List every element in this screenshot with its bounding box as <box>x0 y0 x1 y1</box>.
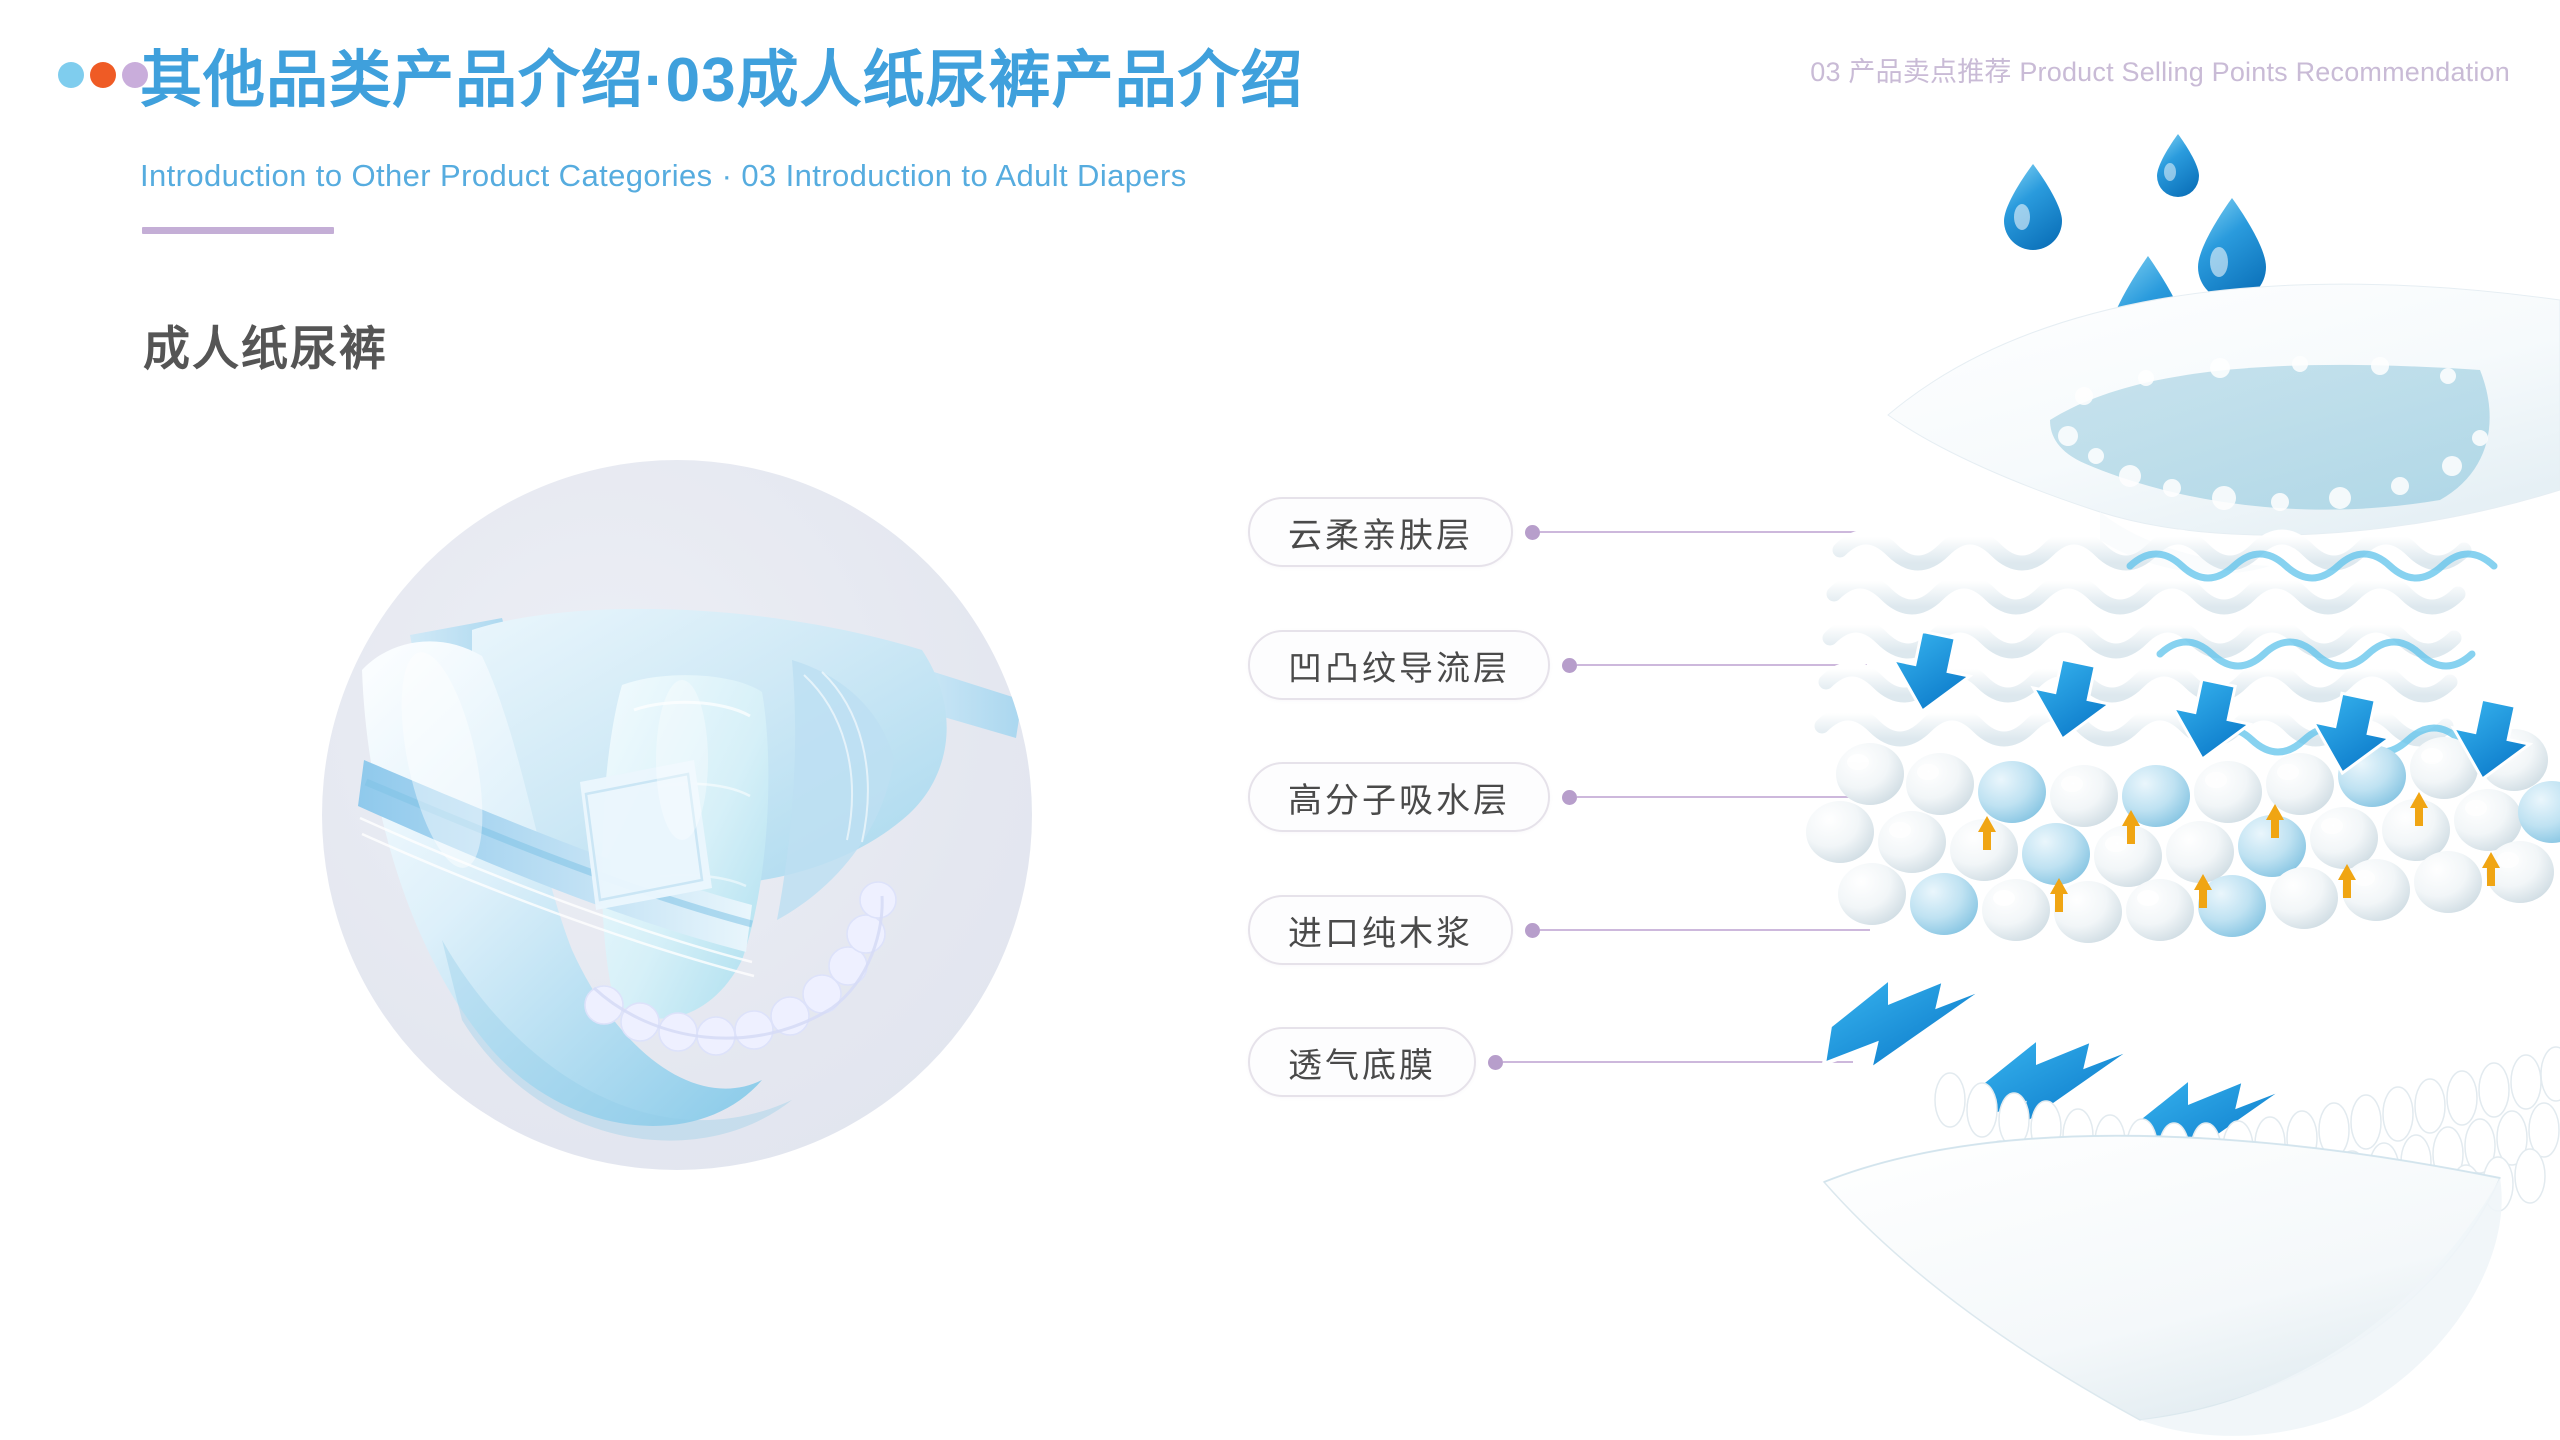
connector-dot-icon <box>1488 1055 1503 1070</box>
sap-bead-layer <box>1806 729 2560 943</box>
absorbent-layer-cutaway-illustration <box>1800 120 2560 1440</box>
layer-label-5[interactable]: 透气底膜 <box>1248 1027 1476 1097</box>
layer-label-3[interactable]: 高分子吸水层 <box>1248 762 1550 832</box>
blue-dot-icon <box>58 62 84 88</box>
page-title: 其他品类产品介绍·03成人纸尿裤产品介绍 <box>140 48 1304 113</box>
connector-dot-icon <box>1525 923 1540 938</box>
connector-dot-icon <box>1562 790 1577 805</box>
layer-row-4[interactable]: 进口纯木浆 <box>1248 895 1870 965</box>
connector-dot-icon <box>1562 658 1577 673</box>
layer-label-2[interactable]: 凹凸纹导流层 <box>1248 630 1550 700</box>
layer-label-1[interactable]: 云柔亲肤层 <box>1248 497 1513 567</box>
top-sheet-layer <box>1888 284 2560 573</box>
adult-diaper-product-illustration <box>322 460 1032 1170</box>
layer-row-1[interactable]: 云柔亲肤层 <box>1248 497 1870 567</box>
brand-dots <box>58 62 148 88</box>
section-heading: 成人纸尿裤 <box>143 310 388 379</box>
connector-dot-icon <box>1525 525 1540 540</box>
layer-row-5[interactable]: 透气底膜 <box>1248 1027 1853 1097</box>
layer-row-3[interactable]: 高分子吸水层 <box>1248 762 1867 832</box>
connector-5 <box>1488 1055 1853 1070</box>
layer-row-2[interactable]: 凹凸纹导流层 <box>1248 630 1867 700</box>
orange-dot-icon <box>90 62 116 88</box>
title-underline <box>142 227 334 234</box>
breathable-base-film <box>1824 1136 2502 1436</box>
page-subtitle: Introduction to Other Product Categories… <box>140 158 1187 194</box>
layer-label-4[interactable]: 进口纯木浆 <box>1248 895 1513 965</box>
